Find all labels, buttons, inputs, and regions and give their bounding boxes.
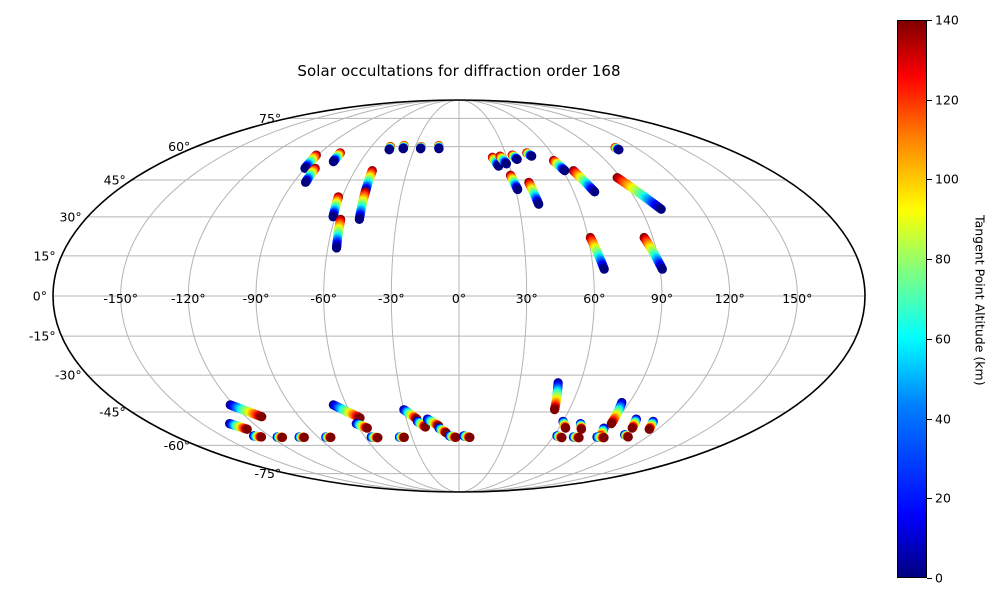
colorbar-label-text: Tangent Point Altitude (km) <box>973 215 988 386</box>
colorbar-tick-mark <box>927 339 932 340</box>
lat-tick-label: 60° <box>168 139 190 154</box>
lon-tick-label: 120° <box>715 291 745 306</box>
lon-tick-label: -90° <box>243 291 270 306</box>
lat-tick-label: -30° <box>55 368 82 383</box>
colorbar-tick-label: 80 <box>935 252 951 267</box>
colorbar-tick-mark <box>927 259 932 260</box>
colorbar-tick-mark <box>927 20 932 21</box>
lon-tick-label: 30° <box>516 291 538 306</box>
colorbar-tick-label: 120 <box>935 92 959 107</box>
colorbar[interactable]: 020406080100120140 <box>897 20 933 578</box>
lat-tick-label: -75° <box>255 466 282 481</box>
lon-tick-label: 60° <box>583 291 605 306</box>
lat-tick-label: 30° <box>59 209 81 224</box>
lat-tick-label: 0° <box>33 289 47 304</box>
colorbar-tick-label: 0 <box>935 571 943 586</box>
lon-tick-label: -120° <box>171 291 206 306</box>
lon-tick-label: -30° <box>378 291 405 306</box>
lon-tick-label: 150° <box>782 291 812 306</box>
colorbar-tick-label: 40 <box>935 411 951 426</box>
mollweide-map: -150°-120°-90°-60°-30°0°30°60°90°120°150… <box>0 0 918 600</box>
colorbar-tick-mark <box>927 100 932 101</box>
lat-tick-label: 45° <box>104 173 126 188</box>
colorbar-tick-label: 60 <box>935 331 951 346</box>
colorbar-tick-label: 100 <box>935 172 959 187</box>
lat-tick-label: -45° <box>99 405 126 420</box>
lon-tick-label: -60° <box>310 291 337 306</box>
colorbar-tick-mark <box>927 419 932 420</box>
lon-tick-label: 0° <box>452 291 466 306</box>
lat-tick-label: 15° <box>33 248 55 263</box>
colorbar-tick-mark <box>927 578 932 579</box>
colorbar-axis-label: Tangent Point Altitude (km) <box>965 0 995 600</box>
lat-tick-label: 75° <box>259 111 281 126</box>
colorbar-tick-mark <box>927 179 932 180</box>
figure-canvas: Solar occultations for diffraction order… <box>0 0 1000 600</box>
lon-tick-label: -150° <box>103 291 138 306</box>
colorbar-tick-label: 140 <box>935 13 959 28</box>
colorbar-gradient <box>897 20 927 578</box>
lat-tick-label: -15° <box>29 329 56 344</box>
colorbar-tick-mark <box>927 498 932 499</box>
lon-tick-label: 90° <box>651 291 673 306</box>
colorbar-tick-label: 20 <box>935 491 951 506</box>
lat-tick-label: -60° <box>164 438 191 453</box>
